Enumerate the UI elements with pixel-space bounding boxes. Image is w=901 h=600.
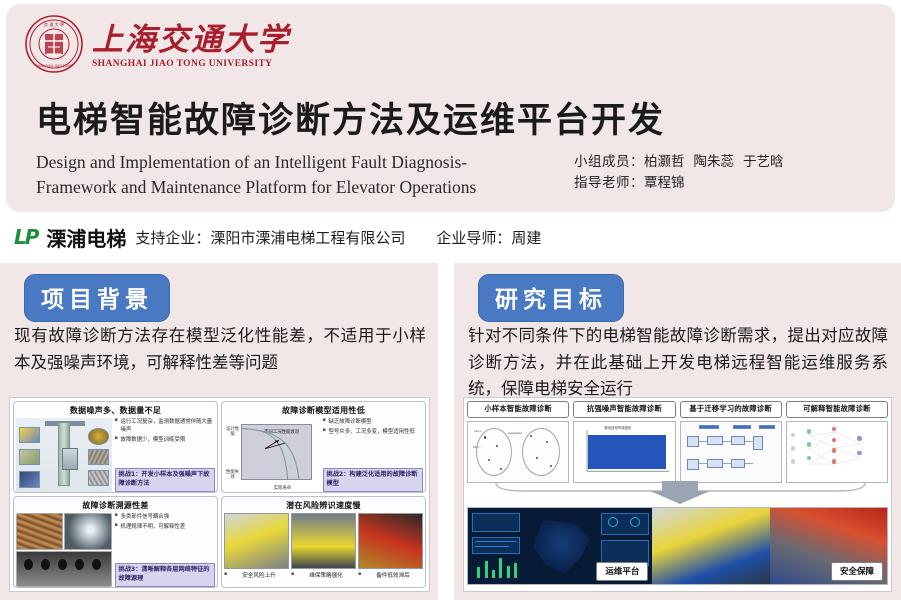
quadrant-title: 故障诊断溯源性差 bbox=[16, 499, 215, 513]
risk-photo bbox=[291, 513, 356, 569]
risk-caption: 维保策略僵化 bbox=[291, 571, 356, 579]
risk-photo bbox=[358, 513, 423, 569]
quadrant-title: 数据噪声多、数据量不足 bbox=[16, 404, 215, 418]
platform-image-row: 运维平台 安全保障 bbox=[467, 507, 888, 585]
quadrant-bullet: 缺乏故障诊断模型 bbox=[323, 418, 423, 426]
company-logo-text: 溧浦电梯 bbox=[46, 223, 126, 252]
challenge-callout: 挑战2：构建泛化适用的故障诊断模型 bbox=[323, 468, 423, 492]
company-support-text: 支持企业：溧阳市溧浦电梯工程有限公司 bbox=[135, 227, 405, 248]
university-name-en: SHANGHAI JIAO TONG UNIVERSITY bbox=[92, 59, 290, 69]
section-badge-background: 项目背景 bbox=[24, 274, 170, 322]
quadrant-title: 潜在风险辨识速度慢 bbox=[224, 499, 423, 513]
feature-cluster-scatter-plot: min L supportset f(x)=... bbox=[467, 421, 569, 483]
maintenance-worker-image bbox=[652, 508, 769, 584]
method-label: 基于迁移学习的故障诊断 bbox=[680, 401, 782, 418]
company-support-bar: LP 溧浦电梯 支持企业：溧阳市溧浦电梯工程有限公司 企业导师：周建 bbox=[14, 222, 541, 252]
risk-photo bbox=[224, 513, 289, 569]
quadrant-bullet: 机理规律不明，可解释性差 bbox=[115, 523, 215, 531]
poster-title-cn: 电梯智能故障诊断方法及运维平台开发 bbox=[36, 92, 876, 143]
team-member-name: 柏灏哲 bbox=[644, 154, 685, 170]
svg-text:交 通 大 學: 交 通 大 學 bbox=[44, 21, 64, 28]
poster-header: 交 通 大 學 SHANGHAI JIAO TONG 上海交通大学 SHANGH… bbox=[6, 4, 895, 212]
team-members-names: 柏灏哲陶朱蕊于艺晗 bbox=[644, 154, 793, 170]
svg-text:SHANGHAI JIAO TONG: SHANGHAI JIAO TONG bbox=[36, 64, 73, 68]
quadrant-bullet: 多类部件信号耦合强 bbox=[115, 513, 215, 521]
sjtu-seal-logo: 交 通 大 學 SHANGHAI JIAO TONG bbox=[24, 14, 84, 74]
method-label: 小样本智能故障诊断 bbox=[467, 401, 569, 418]
advisor-name: 覃程锦 bbox=[644, 175, 685, 191]
quadrant-title: 故障诊断模型适用性低 bbox=[224, 404, 423, 418]
lp-monogram: LP bbox=[14, 225, 37, 249]
university-wordmark: 上海交通大学 SHANGHAI JIAO TONG UNIVERSITY bbox=[92, 19, 290, 68]
method-label-row: 小样本智能故障诊断 抗强噪声智能故障诊断 基于迁移学习的故障诊断 可解释智能故障… bbox=[467, 401, 888, 418]
quadrant-risk-identification: 潜在风险辨识速度慢 安全风险上升 维保策略僵化 备件低效滞后 bbox=[221, 496, 426, 588]
component-wear-photos bbox=[16, 513, 112, 587]
quadrant-data-noise: 数据噪声多、数据量不足 运行工况复杂，监测数据通常伴随大量噪声 故障数据少，模型… bbox=[13, 401, 218, 493]
transfer-learning-network-diagram bbox=[680, 421, 782, 483]
method-label: 抗强噪声智能故障诊断 bbox=[573, 401, 675, 418]
objectives-body-text: 针对不同条件下的电梯智能故障诊断需求，提出对应故障诊断方法，并在此基础上开发电梯… bbox=[468, 323, 888, 403]
section-badge-objectives: 研究目标 bbox=[478, 274, 624, 322]
team-members-line: 小组成员：柏灏哲陶朱蕊于艺晗 bbox=[574, 152, 894, 173]
university-name-cn: 上海交通大学 bbox=[92, 23, 290, 57]
team-member-name: 于艺晗 bbox=[743, 154, 784, 170]
noisy-vibration-waveform-plot: 振动信号时域波形 bbox=[573, 421, 675, 483]
quadrant-traceability: 故障诊断溯源性差 bbox=[13, 496, 218, 588]
quadrant-bullet: 运行工况复杂，监测数据通常伴随大量噪声 bbox=[115, 418, 215, 434]
liangpu-logo-icon: LP bbox=[14, 225, 37, 249]
site-risk-photos: 安全风险上升 维保策略僵化 备件低效滞后 bbox=[224, 513, 423, 579]
flow-connector bbox=[467, 483, 888, 505]
method-label: 可解释智能故障诊断 bbox=[786, 401, 888, 418]
svg-text:f(x)=...: f(x)=... bbox=[473, 445, 482, 449]
platform-label: 安全保障 bbox=[831, 562, 883, 581]
chart-axis-x-label: 实际寿命 bbox=[274, 485, 292, 491]
svg-text:min L: min L bbox=[474, 429, 482, 433]
challenge-quadrant-figure: 数据噪声多、数据量不足 运行工况复杂，监测数据通常伴随大量噪声 故障数据少，模型… bbox=[9, 397, 430, 592]
background-body-text: 现有故障诊断方法存在模型泛化性能差，不适用于小样本及强噪声环境，可解释性差等问题 bbox=[14, 323, 426, 376]
risk-caption: 备件低效滞后 bbox=[358, 571, 423, 579]
interpretable-neural-network-graph bbox=[786, 421, 888, 483]
svg-text:supportset: supportset bbox=[508, 431, 522, 435]
performance-degradation-chart: 设计性能 性能失效 实际寿命 不同工况性能衰退 bbox=[224, 418, 320, 492]
challenge-callout: 挑战3：清晰解释各层网络特征的故障源理 bbox=[115, 563, 215, 587]
advisor-line: 指导老师：覃程锦 bbox=[574, 173, 894, 194]
section-research-objectives: 研究目标 针对不同条件下的电梯智能故障诊断需求，提出对应故障诊断方法，并在此基础… bbox=[454, 263, 901, 600]
subtitle-line-2: Framework and Maintenance Platform for E… bbox=[36, 175, 566, 200]
chart-axis-bottom-label: 性能失效 bbox=[225, 470, 240, 481]
quadrant-model-applicability: 故障诊断模型适用性低 设计性能 性能失效 实际寿命 不同工况性能衰退 bbox=[221, 401, 426, 493]
team-member-name: 陶朱蕊 bbox=[694, 154, 735, 170]
risk-caption: 安全风险上升 bbox=[224, 571, 289, 579]
company-mentor-text: 企业导师：周建 bbox=[436, 227, 541, 248]
challenge-callout: 挑战1：开发小样本及强噪声下故障诊断方法 bbox=[115, 468, 215, 492]
advisor-label: 指导老师： bbox=[574, 175, 644, 191]
section-project-background: 项目背景 现有故障诊断方法存在模型泛化性能差，不适用于小样本及强噪声环境，可解释… bbox=[0, 263, 438, 600]
chart-axis-top-label: 设计性能 bbox=[225, 427, 240, 438]
spare-parts-warehouse-image: 安全保障 bbox=[770, 508, 887, 584]
monitoring-dashboard-image: 运维平台 bbox=[468, 508, 652, 584]
team-members-label: 小组成员： bbox=[574, 154, 644, 170]
university-branding: 交 通 大 學 SHANGHAI JIAO TONG 上海交通大学 SHANGH… bbox=[24, 14, 290, 74]
quadrant-bullet: 型号众多、工况多变，模型适用性低 bbox=[323, 428, 423, 436]
poster-subtitle-en: Design and Implementation of an Intellig… bbox=[36, 150, 566, 200]
elevator-system-diagram bbox=[16, 418, 112, 492]
team-info: 小组成员：柏灏哲陶朱蕊于艺晗 指导老师：覃程锦 bbox=[574, 152, 894, 194]
platform-label: 运维平台 bbox=[596, 562, 648, 581]
method-panel-row: min L supportset f(x)=... 振动信号时域波形 bbox=[467, 421, 888, 483]
subtitle-line-1: Design and Implementation of an Intellig… bbox=[36, 150, 566, 175]
quadrant-bullet: 故障数据少，模型训练受限 bbox=[115, 436, 215, 444]
poster-root: 交 通 大 學 SHANGHAI JIAO TONG 上海交通大学 SHANGH… bbox=[0, 0, 901, 600]
research-approach-figure: 小样本智能故障诊断 抗强噪声智能故障诊断 基于迁移学习的故障诊断 可解释智能故障… bbox=[463, 397, 892, 592]
